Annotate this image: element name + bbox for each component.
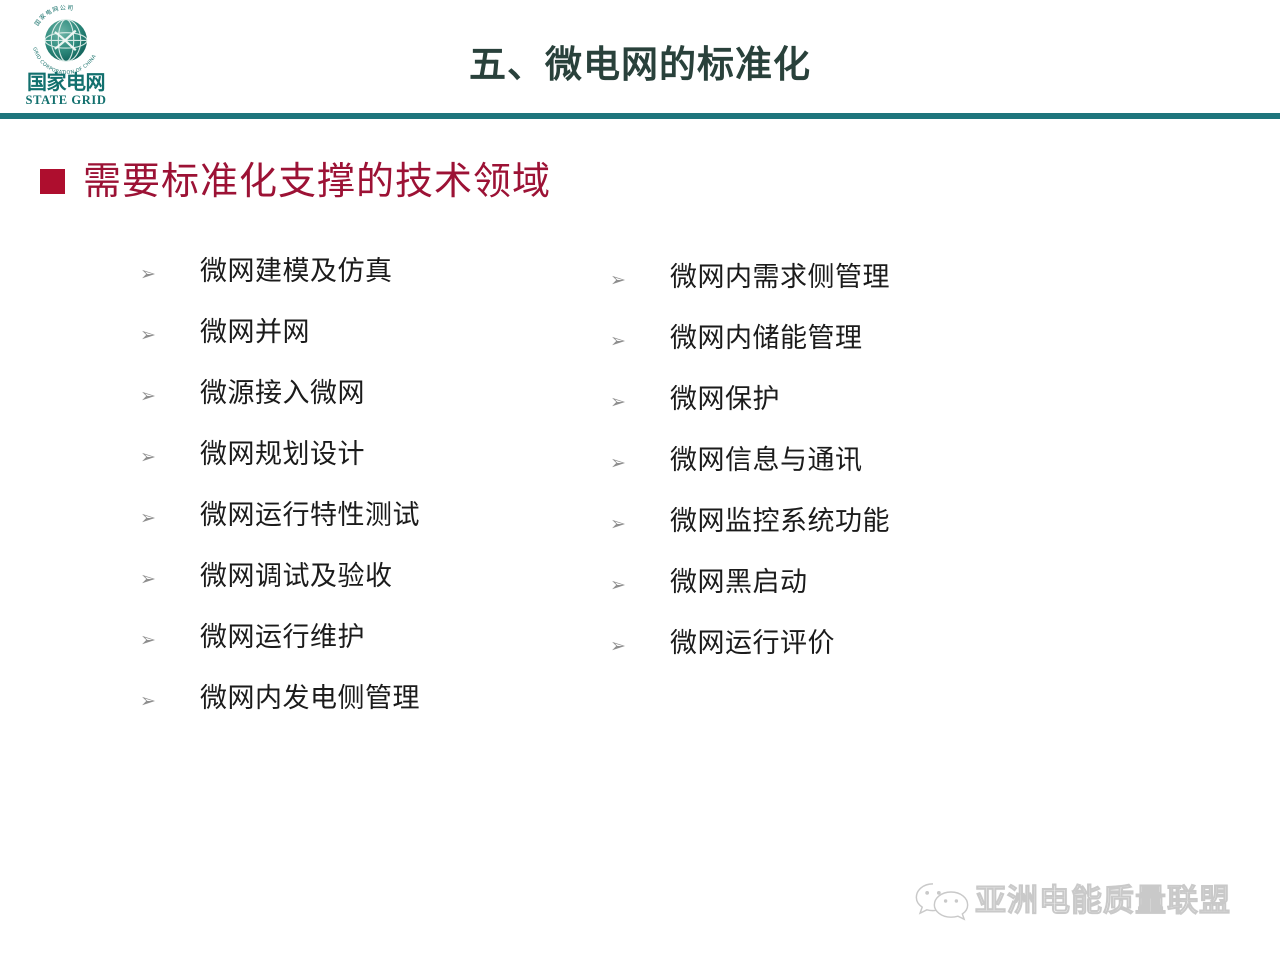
arrowhead-bullet-icon: ➢: [610, 393, 670, 412]
slide-header: 国家电网公司 GRID CORPORATION OF CHINA 国家电网 ST…: [0, 0, 1280, 114]
list-item: ➢ 微网信息与通讯: [610, 447, 890, 508]
arrowhead-bullet-icon: ➢: [140, 326, 200, 345]
section-heading: 需要标准化支撑的技术领域: [40, 162, 551, 200]
arrowhead-bullet-icon: ➢: [140, 631, 200, 650]
list-item-label: 微网建模及仿真: [200, 258, 393, 285]
list-item-label: 微网内需求侧管理: [670, 264, 890, 291]
logo-name-en: STATE GRID: [14, 94, 118, 108]
arrowhead-bullet-icon: ➢: [140, 448, 200, 467]
list-item-label: 微网内储能管理: [670, 325, 863, 352]
arrowhead-bullet-icon: ➢: [140, 570, 200, 589]
arrowhead-bullet-icon: ➢: [140, 509, 200, 528]
list-item: ➢ 微网保护: [610, 386, 890, 447]
watermark: 亚洲电能质量联盟: [915, 880, 1231, 922]
arrowhead-bullet-icon: ➢: [610, 515, 670, 534]
list-item-label: 微网运行维护: [200, 624, 365, 651]
list-item-label: 微网运行评价: [670, 630, 835, 657]
arrowhead-bullet-icon: ➢: [610, 576, 670, 595]
left-column: ➢ 微网建模及仿真 ➢ 微网并网 ➢ 微源接入微网 ➢ 微网规划设计 ➢ 微网运…: [140, 258, 420, 746]
list-item-label: 微网内发电侧管理: [200, 685, 420, 712]
section-heading-label: 需要标准化支撑的技术领域: [83, 162, 551, 200]
list-item-label: 微网并网: [200, 319, 310, 346]
list-item: ➢ 微网运行特性测试: [140, 502, 420, 563]
arrowhead-bullet-icon: ➢: [610, 454, 670, 473]
arrowhead-bullet-icon: ➢: [140, 265, 200, 284]
arrowhead-bullet-icon: ➢: [610, 332, 670, 351]
list-item: ➢ 微网并网: [140, 319, 420, 380]
square-bullet-icon: [40, 169, 65, 194]
list-item: ➢ 微网黑启动: [610, 569, 890, 630]
arrowhead-bullet-icon: ➢: [610, 637, 670, 656]
list-item: ➢ 微网内发电侧管理: [140, 685, 420, 746]
list-item: ➢ 微网内需求侧管理: [610, 264, 890, 325]
list-item-label: 微网调试及验收: [200, 563, 393, 590]
arrowhead-bullet-icon: ➢: [140, 692, 200, 711]
list-item: ➢ 微网内储能管理: [610, 325, 890, 386]
list-item-label: 微网监控系统功能: [670, 508, 890, 535]
list-item: ➢ 微网运行维护: [140, 624, 420, 685]
list-item-label: 微网黑启动: [670, 569, 808, 596]
list-item: ➢ 微网运行评价: [610, 630, 890, 691]
watermark-label: 亚洲电能质量联盟: [975, 886, 1231, 917]
list-item: ➢ 微网监控系统功能: [610, 508, 890, 569]
list-item: ➢ 微网建模及仿真: [140, 258, 420, 319]
page-title: 五、微电网的标准化: [0, 34, 1280, 88]
list-item-label: 微网信息与通讯: [670, 447, 863, 474]
arrowhead-bullet-icon: ➢: [140, 387, 200, 406]
list-item: ➢ 微源接入微网: [140, 380, 420, 441]
arrowhead-bullet-icon: ➢: [610, 271, 670, 290]
right-column: ➢ 微网内需求侧管理 ➢ 微网内储能管理 ➢ 微网保护 ➢ 微网信息与通讯 ➢ …: [610, 258, 890, 691]
list-item-label: 微网运行特性测试: [200, 502, 420, 529]
list-item: ➢ 微网调试及验收: [140, 563, 420, 624]
list-item-label: 微源接入微网: [200, 380, 365, 407]
list-item-label: 微网规划设计: [200, 441, 365, 468]
list-item-label: 微网保护: [670, 386, 780, 413]
list-item: ➢ 微网规划设计: [140, 441, 420, 502]
wechat-icon: [915, 880, 969, 922]
slide: 国家电网公司 GRID CORPORATION OF CHINA 国家电网 ST…: [0, 0, 1280, 960]
header-divider: [0, 113, 1280, 119]
